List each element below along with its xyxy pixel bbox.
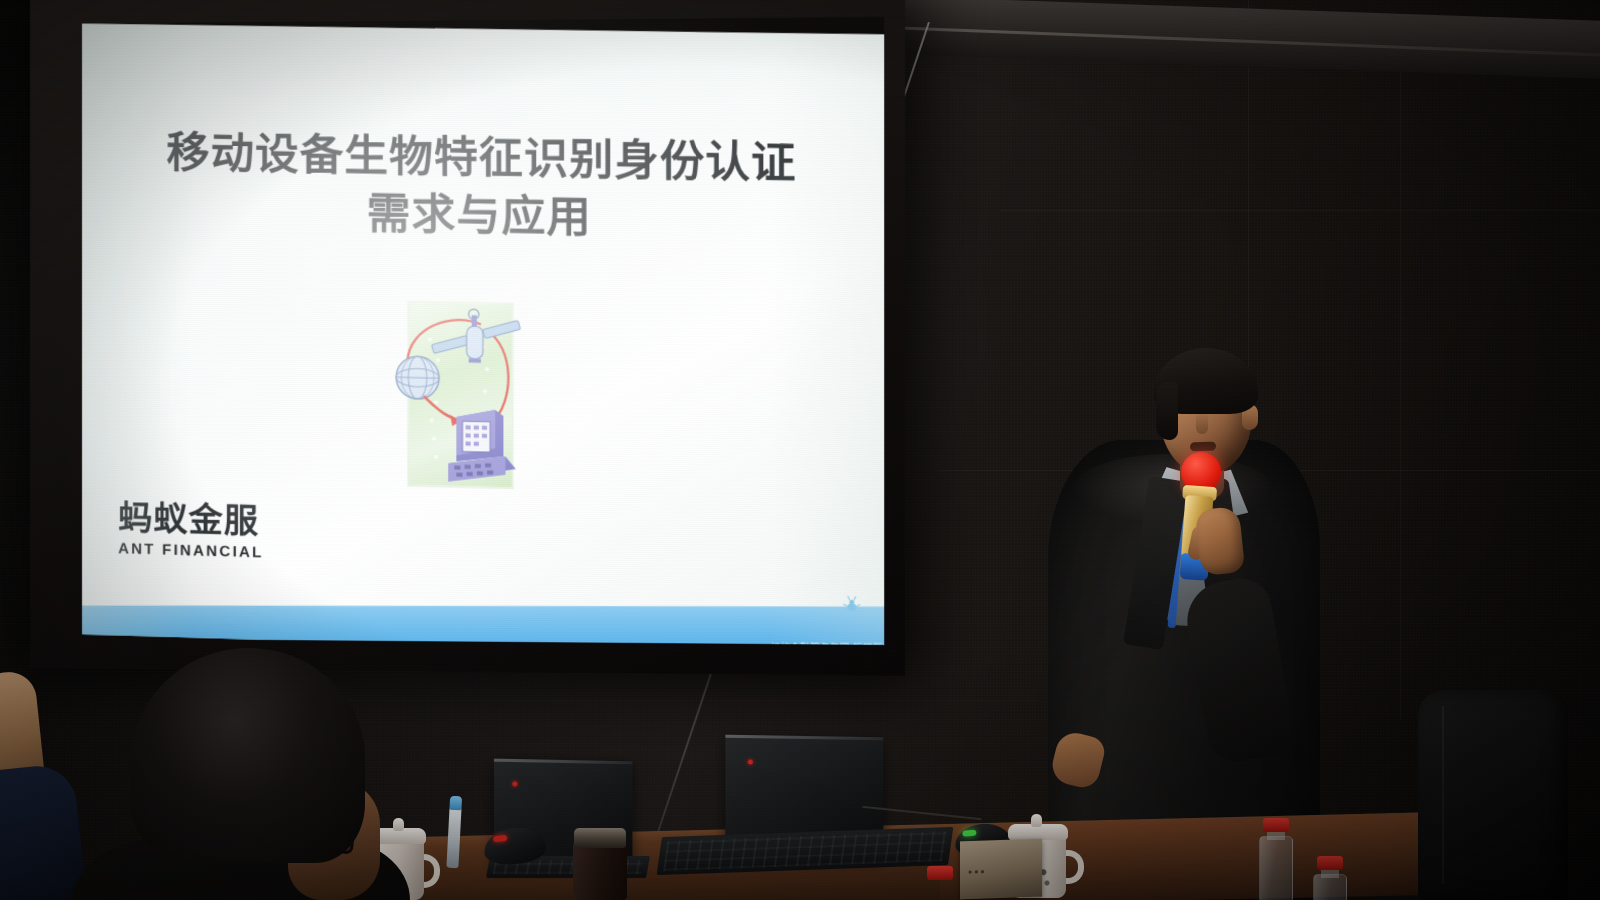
presenter-hair-side: [1156, 382, 1178, 440]
slide-title-line-2: 需求与应用: [82, 181, 884, 253]
presenter-mouth: [1190, 442, 1216, 452]
water-bottle-2: [1310, 856, 1350, 900]
presentation-photo-scene: 移动设备生物特征识别身份认证 需求与应用: [0, 0, 1600, 900]
laptop-indicator-light: [748, 759, 753, 764]
attendee-sleeve: [0, 762, 87, 900]
logo-chinese-text: 蚂蚁金服: [118, 501, 300, 540]
slide-footer-band: 蚂蚁金融服务集团 版权所有: [82, 606, 884, 645]
satellite-globe-computer-icon: [385, 292, 523, 497]
bottle-cap: [1317, 856, 1343, 870]
slide-copyright-text: 蚂蚁金融服务集团 版权所有: [771, 640, 885, 645]
slide-title: 移动设备生物特征识别身份认证 需求与应用: [82, 124, 884, 253]
office-chair: [1418, 690, 1568, 900]
bottle-cap: [927, 866, 953, 880]
presenter-hand-holding-mic: [1195, 506, 1246, 576]
wall-panel-seam: [1400, 60, 1401, 720]
projection-screen: 移动设备生物特征识别身份认证 需求与应用: [30, 0, 905, 676]
bottle-body: [1259, 836, 1293, 900]
name-card-text: •••: [968, 865, 987, 880]
slide-clipart: [385, 292, 523, 497]
water-bottle-3: [920, 866, 960, 900]
bottle-cap: [1263, 818, 1289, 832]
water-bottle-1: [1256, 818, 1296, 900]
logo-english-text: ANT FINANCIAL: [118, 540, 300, 562]
name-card-holder: •••: [960, 839, 1042, 900]
presentation-slide: 移动设备生物特征识别身份认证 需求与应用: [82, 24, 884, 645]
wall-panel-seam: [1000, 210, 1600, 211]
presenter-nose: [1196, 412, 1208, 434]
ant-financial-logo: 蚂蚁金服 ANT FINANCIAL: [118, 501, 300, 562]
ant-mascot-icon: [842, 596, 861, 613]
mug-lid-knob: [1031, 814, 1042, 827]
thermos-body: [573, 842, 627, 900]
pen-cap: [449, 796, 462, 811]
attendee-raised-arm: [0, 672, 80, 900]
mouse-led-green: [962, 830, 976, 837]
laptop-keyboard: [663, 831, 947, 871]
chair-seam: [1442, 706, 1444, 884]
slide-title-line-1: 移动设备生物特征识别身份认证: [166, 129, 796, 188]
thermos-flask: [573, 826, 627, 900]
thermos-cap: [574, 828, 626, 848]
projection-screen-surface: 移动设备生物特征识别身份认证 需求与应用: [82, 17, 884, 645]
seated-attendee: [110, 648, 400, 900]
laptop-indicator-light: [512, 781, 517, 786]
attendee-hair: [130, 648, 365, 863]
wall-panel-seam: [300, 700, 1040, 701]
mouse-led-red: [493, 835, 508, 842]
